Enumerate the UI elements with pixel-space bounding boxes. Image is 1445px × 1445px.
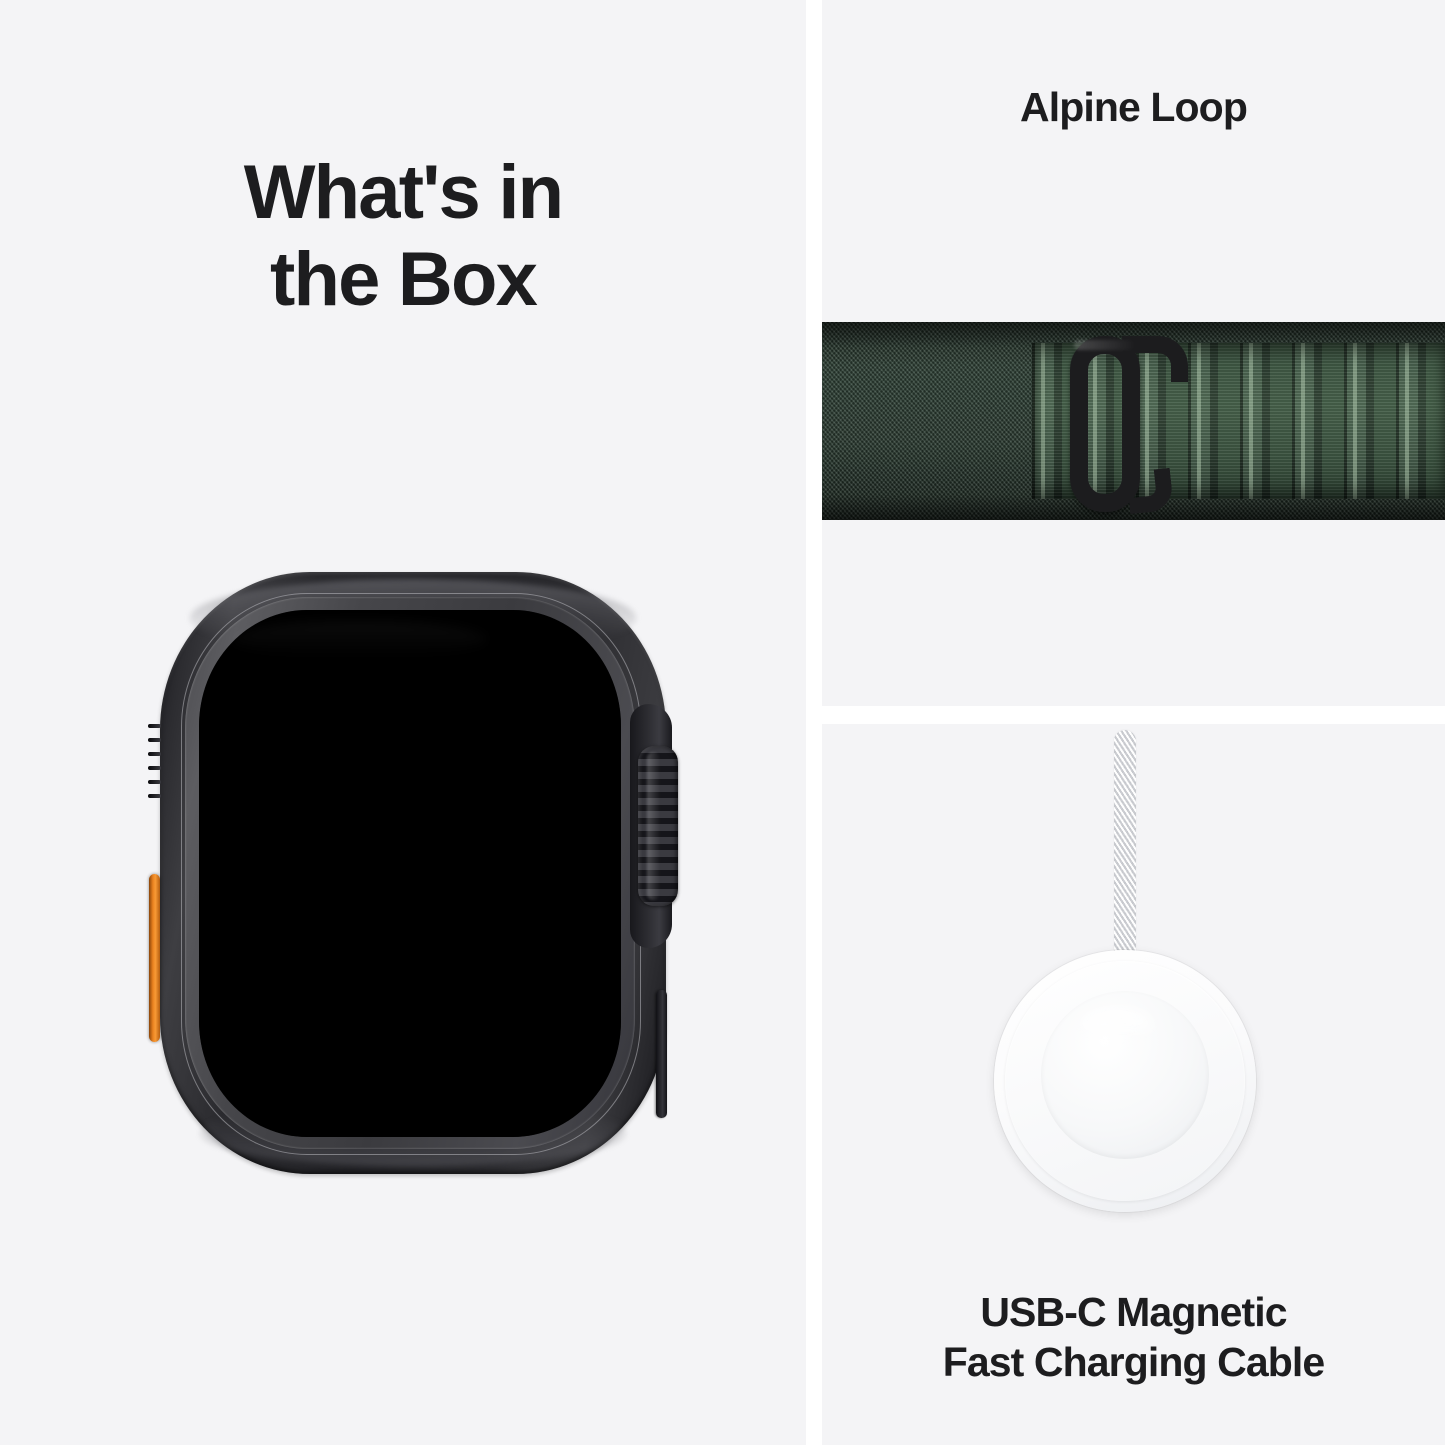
panel-charging-cable: USB-C Magnetic Fast Charging Cable [822, 724, 1445, 1445]
magnetic-charger-puck [994, 950, 1256, 1212]
action-button[interactable] [149, 874, 160, 1042]
panel-whats-in-the-box: What's in the Box [0, 0, 806, 1445]
side-button[interactable] [656, 990, 667, 1118]
grille-slot [148, 738, 161, 742]
buckle-hook-tab [1126, 468, 1174, 514]
vertical-divider [806, 0, 822, 1445]
product-gallery: What's in the Box [0, 0, 1445, 1445]
grille-slot [148, 724, 161, 728]
g-hook-buckle [1070, 330, 1188, 518]
grille-slot [148, 780, 161, 784]
puck-highlight [1078, 1008, 1155, 1045]
grille-slot [148, 752, 161, 756]
speaker-grille-icon [148, 722, 161, 800]
horizontal-divider [822, 706, 1445, 724]
page-title: What's in the Box [0, 150, 806, 323]
alpine-loop-band-image [822, 322, 1445, 520]
puck-outer-ring [1005, 961, 1245, 1201]
apple-watch-ultra-image [148, 572, 678, 1174]
panel-alpine-loop: Alpine Loop [822, 0, 1445, 706]
braided-cable-cord [1114, 730, 1136, 972]
grille-slot [148, 794, 161, 798]
buckle-gloss [1074, 340, 1136, 350]
crown-sheen [647, 752, 661, 899]
puck-charging-face [1041, 991, 1209, 1159]
charging-cable-label: USB-C Magnetic Fast Charging Cable [822, 1287, 1445, 1387]
alpine-loop-label: Alpine Loop [822, 82, 1445, 132]
watch-screen [199, 610, 621, 1137]
screen-glint [233, 621, 486, 658]
digital-crown[interactable] [638, 746, 678, 906]
grille-slot [148, 766, 161, 770]
